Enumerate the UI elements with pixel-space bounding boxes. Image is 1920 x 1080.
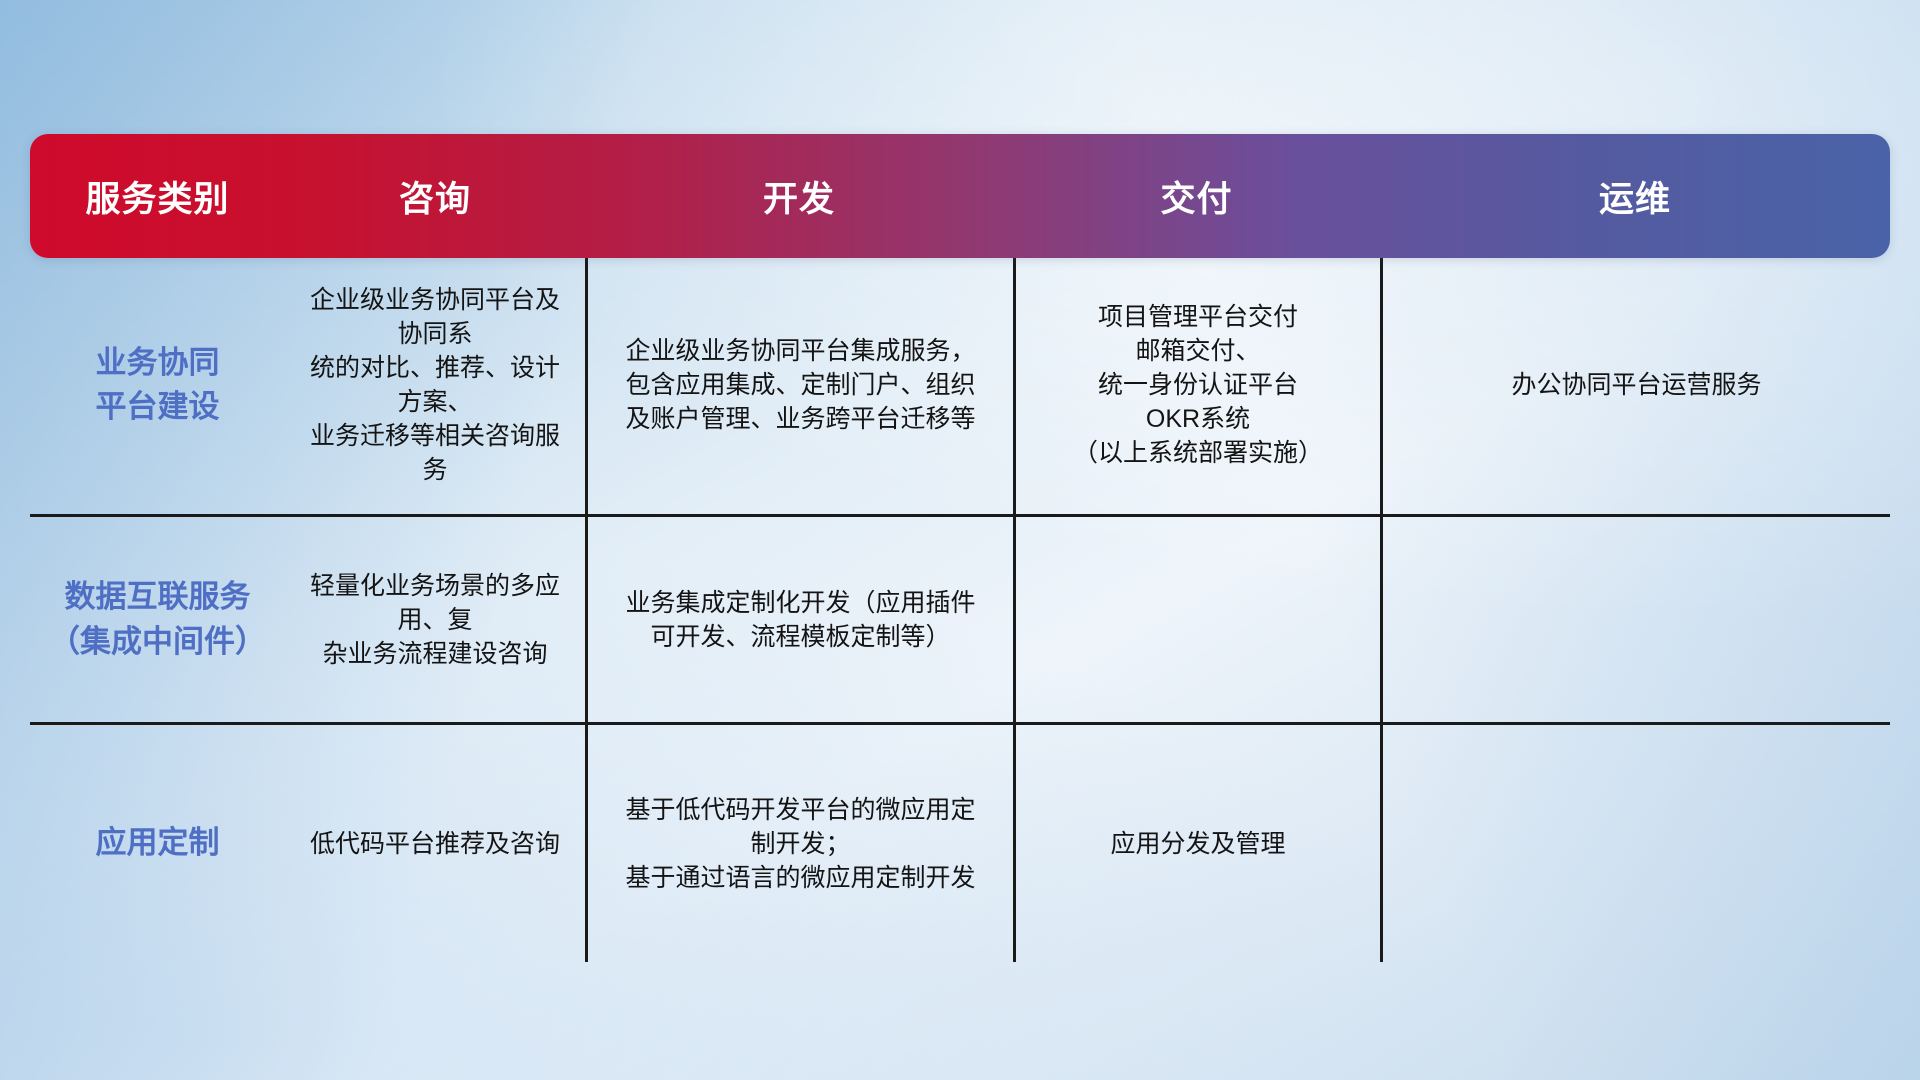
table-row: 应用定制 低代码平台推荐及咨询 基于低代码开发平台的微应用定 制开发； 基于通过… — [30, 722, 1890, 962]
service-matrix-table: 服务类别 咨询 开发 交付 运维 业务协同 平台建设 企业级业务协同平台及协同系… — [30, 134, 1890, 956]
cell-development-1: 企业级业务协同平台集成服务， 包含应用集成、定制门户、组织 及账户管理、业务跨平… — [585, 256, 1013, 514]
cell-operations-3 — [1380, 725, 1890, 962]
table-row: 数据互联服务 （集成中间件） 轻量化业务场景的多应用、复 杂业务流程建设咨询 业… — [30, 514, 1890, 722]
cell-delivery-2 — [1013, 517, 1380, 722]
cell-delivery-3: 应用分发及管理 — [1013, 725, 1380, 962]
cell-delivery-1: 项目管理平台交付 邮箱交付、 统一身份认证平台 OKR系统 （以上系统部署实施） — [1013, 256, 1380, 514]
slide-canvas: 服务类别 咨询 开发 交付 运维 业务协同 平台建设 企业级业务协同平台及协同系… — [0, 0, 1920, 1080]
cell-development-2: 业务集成定制化开发（应用插件 可开发、流程模板定制等） — [585, 517, 1013, 722]
cell-consulting-2: 轻量化业务场景的多应用、复 杂业务流程建设咨询 — [285, 517, 585, 722]
cell-operations-1: 办公协同平台运营服务 — [1380, 256, 1890, 514]
cell-consulting-1: 企业级业务协同平台及协同系 统的对比、推荐、设计方案、 业务迁移等相关咨询服务 — [285, 256, 585, 514]
table-row: 业务协同 平台建设 企业级业务协同平台及协同系 统的对比、推荐、设计方案、 业务… — [30, 256, 1890, 514]
table-body: 业务协同 平台建设 企业级业务协同平台及协同系 统的对比、推荐、设计方案、 业务… — [30, 256, 1890, 962]
cell-category-2: 数据互联服务 （集成中间件） — [30, 517, 285, 722]
column-header-delivery: 交付 — [1013, 171, 1380, 222]
cell-operations-2 — [1380, 517, 1890, 722]
column-header-consulting: 咨询 — [285, 171, 585, 222]
cell-category-1: 业务协同 平台建设 — [30, 256, 285, 514]
cell-category-3: 应用定制 — [30, 725, 285, 962]
table-header-row: 服务类别 咨询 开发 交付 运维 — [30, 134, 1890, 258]
cell-development-3: 基于低代码开发平台的微应用定 制开发； 基于通过语言的微应用定制开发 — [585, 725, 1013, 962]
column-header-operations: 运维 — [1380, 171, 1890, 222]
column-header-category: 服务类别 — [30, 171, 285, 222]
cell-consulting-3: 低代码平台推荐及咨询 — [285, 725, 585, 962]
column-header-development: 开发 — [585, 171, 1013, 222]
